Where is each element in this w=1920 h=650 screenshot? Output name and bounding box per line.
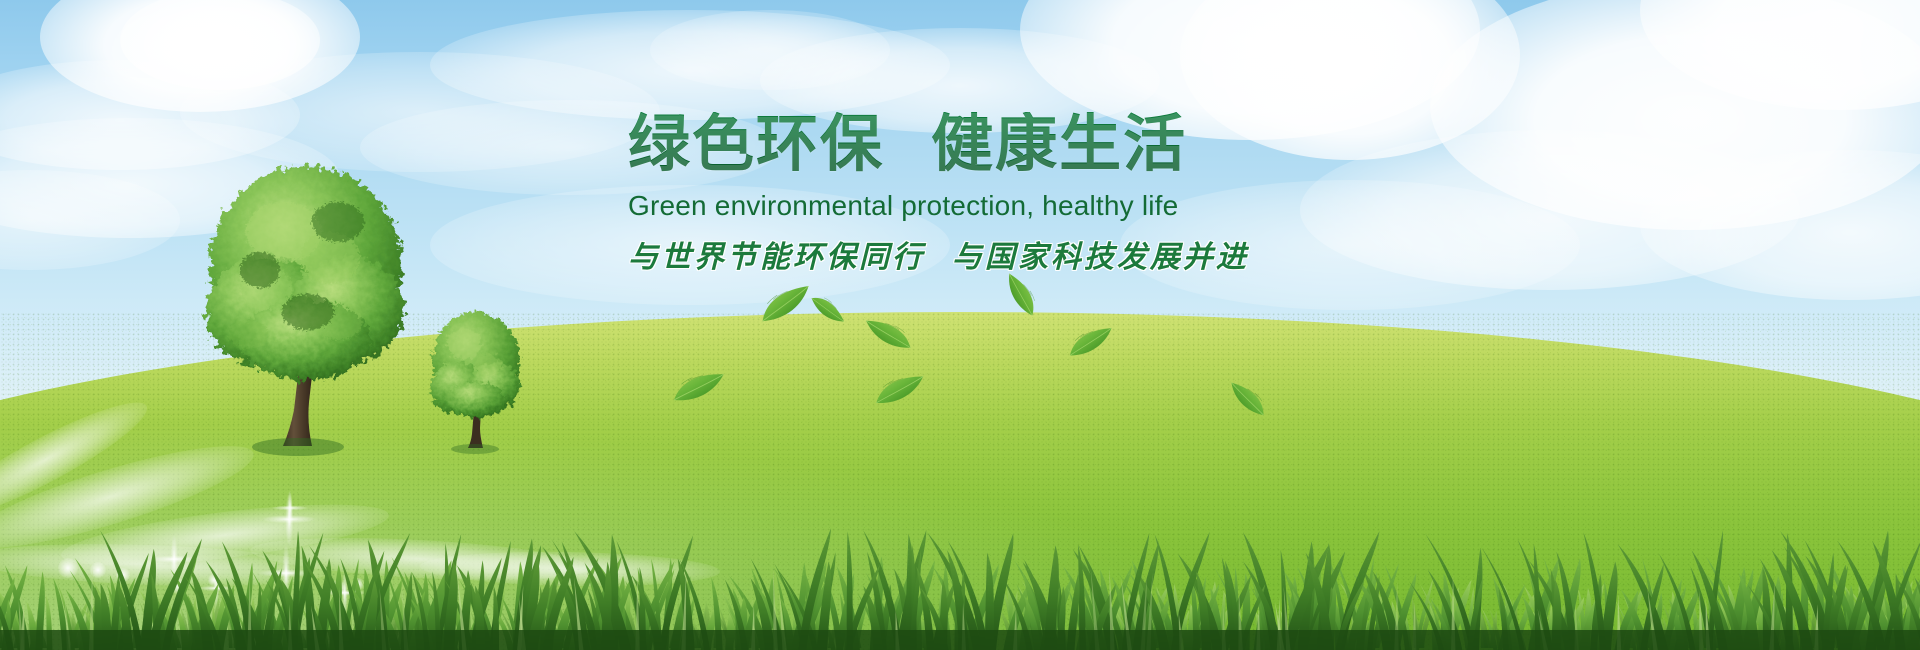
green-eco-banner: 绿色环保 健康生活 Green environmental protection… [0,0,1920,650]
large-tree-graphic [188,162,428,462]
large-tree-foliage [206,166,404,380]
small-tree [424,306,534,456]
small-tree-shadow [451,444,499,454]
small-tree-graphic [424,306,534,456]
large-tree-shadow [252,438,344,456]
subtitle-chinese-calligraphy: 与世界节能环保同行 与国家科技发展并进 [628,232,1328,276]
large-tree [188,162,428,462]
headline-text-block: 绿色环保 健康生活 Green environmental protection… [628,112,1328,276]
subtitle-english: Green environmental protection, healthy … [628,190,1328,222]
page-title: 绿色环保 健康生活 [628,112,1328,176]
